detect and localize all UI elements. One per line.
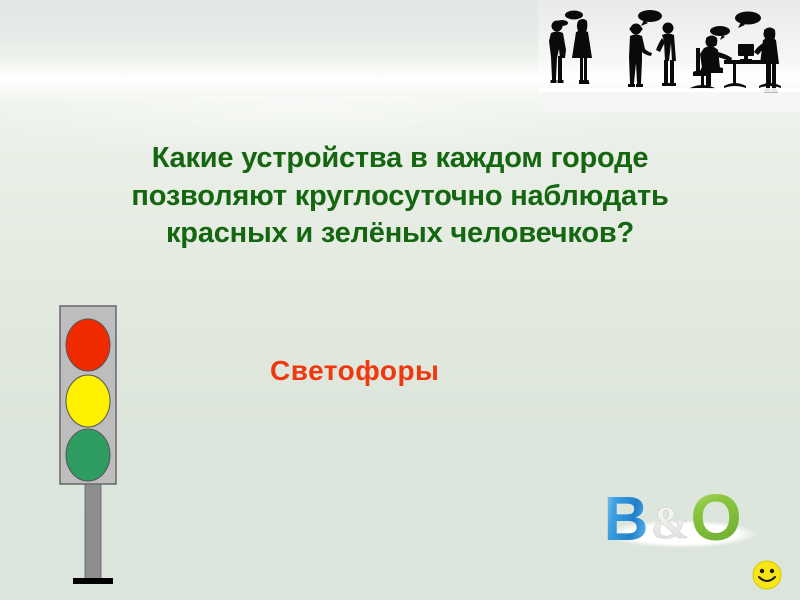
slide-canvas: Какие устройства в каждом городе позволя…	[0, 0, 800, 600]
smiley-eye-left	[760, 569, 764, 573]
question-line-3: красных и зелёных человечков?	[20, 215, 780, 253]
logo-letter-o: O	[690, 480, 741, 554]
smiley-face	[750, 558, 784, 592]
svg-text:O: O	[690, 572, 741, 573]
answer-text: Светофоры	[270, 355, 439, 387]
traffic-light	[55, 303, 145, 588]
logo-letter-b: B	[604, 485, 649, 554]
traffic-light-base	[73, 578, 113, 584]
smiley-eye-right	[770, 569, 774, 573]
b-and-o-logo: B & O B O	[600, 478, 765, 573]
logo-ampersand: &	[651, 497, 689, 548]
traffic-light-pole	[85, 483, 101, 580]
question-line-2: позволяют круглосуточно наблюдать	[20, 178, 780, 216]
green-lamp	[66, 429, 110, 481]
yellow-lamp	[66, 375, 110, 427]
svg-text:B: B	[604, 572, 649, 573]
red-lamp	[66, 319, 110, 371]
question-title: Какие устройства в каждом городе позволя…	[20, 140, 780, 253]
people-silhouettes-banner	[538, 0, 800, 112]
smiley-face-circle	[753, 561, 781, 589]
question-line-1: Какие устройства в каждом городе	[20, 140, 780, 178]
